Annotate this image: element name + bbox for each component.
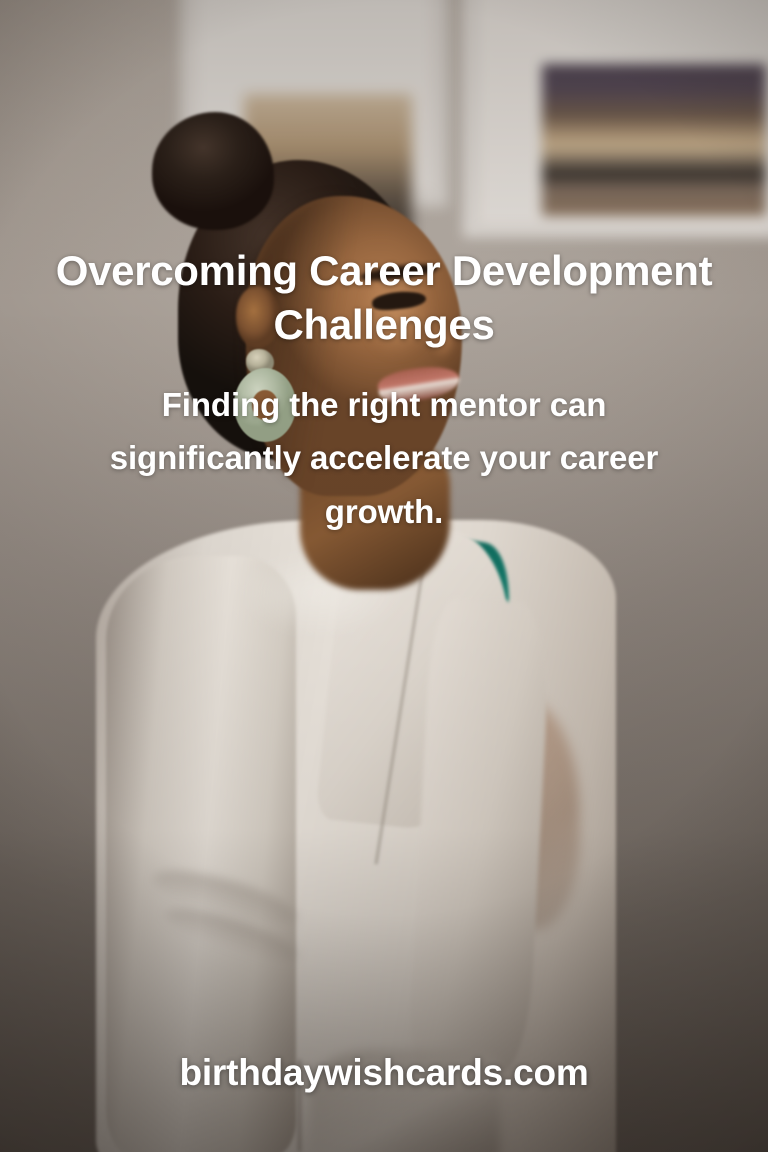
subtitle-block: Finding the right mentor can significant…: [0, 378, 768, 538]
social-card: Overcoming Career Development Challenges…: [0, 0, 768, 1152]
site-watermark: birthdaywishcards.com: [0, 1052, 768, 1094]
text-overlay: Overcoming Career Development Challenges…: [0, 0, 768, 1152]
card-title: Overcoming Career Development Challenges: [2, 244, 766, 352]
title-block: Overcoming Career Development Challenges: [0, 244, 768, 352]
card-subtitle: Finding the right mentor can significant…: [92, 378, 676, 538]
footer-block: birthdaywishcards.com: [0, 1052, 768, 1094]
